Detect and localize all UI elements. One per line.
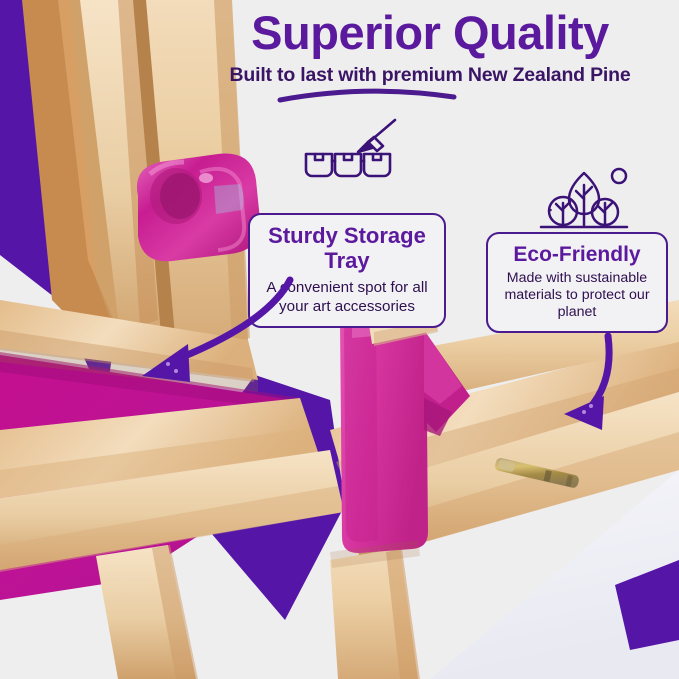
page-title: Superior Quality [190, 8, 670, 59]
infographic-canvas: Superior Quality Built to last with prem… [0, 0, 679, 679]
header: Superior Quality Built to last with prem… [190, 8, 670, 87]
paint-tray-with-brush-icon [296, 118, 400, 186]
page-subtitle: Built to last with premium New Zealand P… [190, 64, 670, 87]
trees-icon [537, 163, 631, 235]
callout-eco-friendly[interactable]: Eco-Friendly Made with sustainable mater… [486, 232, 668, 333]
pointer-arrow-to-storage-tray [118, 276, 298, 396]
callout-body: Made with sustainable materials to prote… [498, 270, 656, 322]
callout-title: Sturdy Storage Tray [260, 224, 434, 273]
pointer-arrow-to-eco-feature [558, 334, 648, 434]
callout-title: Eco-Friendly [498, 243, 656, 267]
swoosh-underline-icon [277, 88, 457, 104]
